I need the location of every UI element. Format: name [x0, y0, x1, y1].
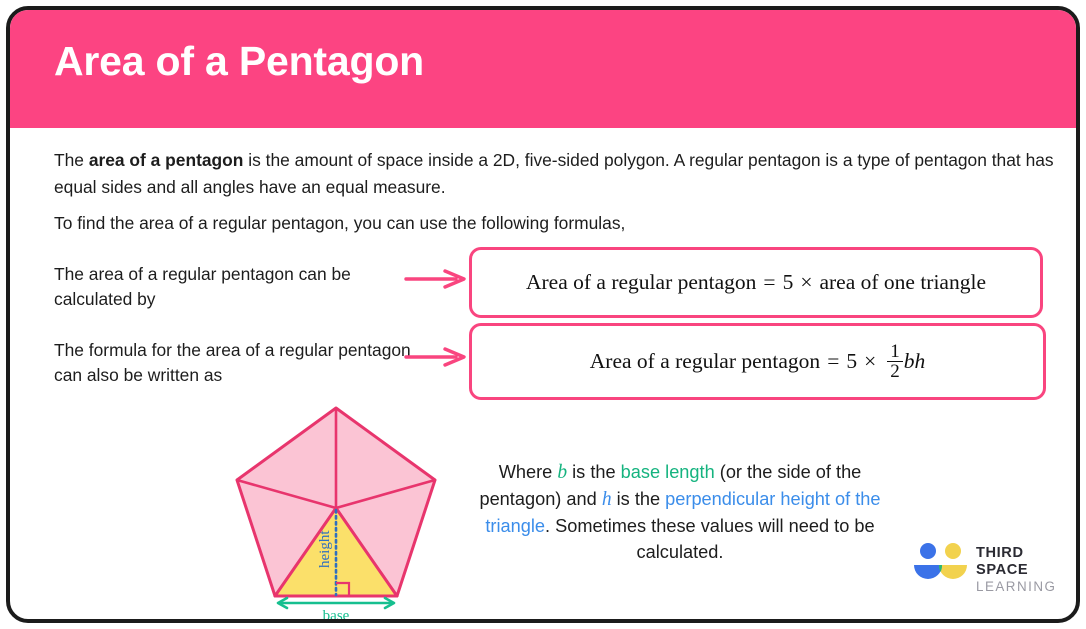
caption-part4: is the [612, 489, 666, 509]
base-label: base [323, 608, 350, 620]
caption-part2: is the [567, 462, 621, 482]
formula-1-expression: Area of a regular pentagon = 5 × area of… [526, 270, 986, 295]
lesson-card: Area of a Pentagon The area of a pentago… [6, 6, 1080, 623]
formula-label-1: The area of a regular pentagon can be ca… [54, 262, 414, 312]
third-space-learning-logo: THIRD SPACE LEARNING [912, 541, 1072, 587]
caption-part1: Where [499, 462, 558, 482]
formula-1-equals: = [763, 270, 775, 295]
height-label: height [317, 530, 333, 568]
logo-line-2: LEARNING [976, 579, 1072, 595]
formula-2-lhs: Area of a regular pentagon [590, 349, 820, 374]
caption-part5: . Sometimes these values will need to be… [545, 516, 875, 562]
formula-1-times: × [800, 270, 812, 295]
formula-box-1: Area of a regular pentagon = 5 × area of… [469, 247, 1043, 318]
formulas-lead-paragraph: To find the area of a regular pentagon, … [54, 210, 754, 237]
formula-2-factor: 5 [846, 349, 857, 374]
formula-2-equals: = [827, 349, 839, 374]
caption-variable-b: b [557, 462, 567, 483]
pentagon-diagram: height base [226, 398, 456, 620]
logo-text: THIRD SPACE LEARNING [976, 545, 1072, 595]
formula-1-rhs: area of one triangle [819, 270, 986, 295]
logo-mark-icon [912, 541, 972, 585]
intro-text-part1: The [54, 150, 89, 170]
arrow-to-formula-2-icon [404, 344, 470, 370]
formula-2-variables: bh [904, 349, 926, 374]
formula-2-times: × [864, 349, 876, 374]
variables-caption: Where b is the base length (or the side … [458, 459, 902, 565]
formula-box-2: Area of a regular pentagon = 5 × 1 2 bh [469, 323, 1046, 400]
formula-label-2: The formula for the area of a regular pe… [54, 338, 414, 388]
formula-2-fraction-denominator: 2 [887, 361, 903, 381]
base-measure-arrow-icon [278, 598, 394, 608]
page-title: Area of a Pentagon [54, 38, 424, 85]
formula-1-factor: 5 [783, 270, 794, 295]
formula-2-fraction-numerator: 1 [887, 342, 903, 361]
intro-paragraph: The area of a pentagon is the amount of … [54, 147, 1054, 201]
page-header: Area of a Pentagon [10, 10, 1076, 128]
formula-2-fraction: 1 2 [887, 342, 903, 382]
logo-line-1: THIRD SPACE [976, 545, 1072, 579]
intro-bold-term: area of a pentagon [89, 150, 244, 170]
caption-base-length-term: base length [621, 462, 715, 482]
caption-variable-h: h [602, 489, 612, 510]
arrow-to-formula-1-icon [404, 266, 470, 292]
formula-2-expression: Area of a regular pentagon = 5 × 1 2 bh [590, 342, 925, 382]
formula-1-lhs: Area of a regular pentagon [526, 270, 756, 295]
